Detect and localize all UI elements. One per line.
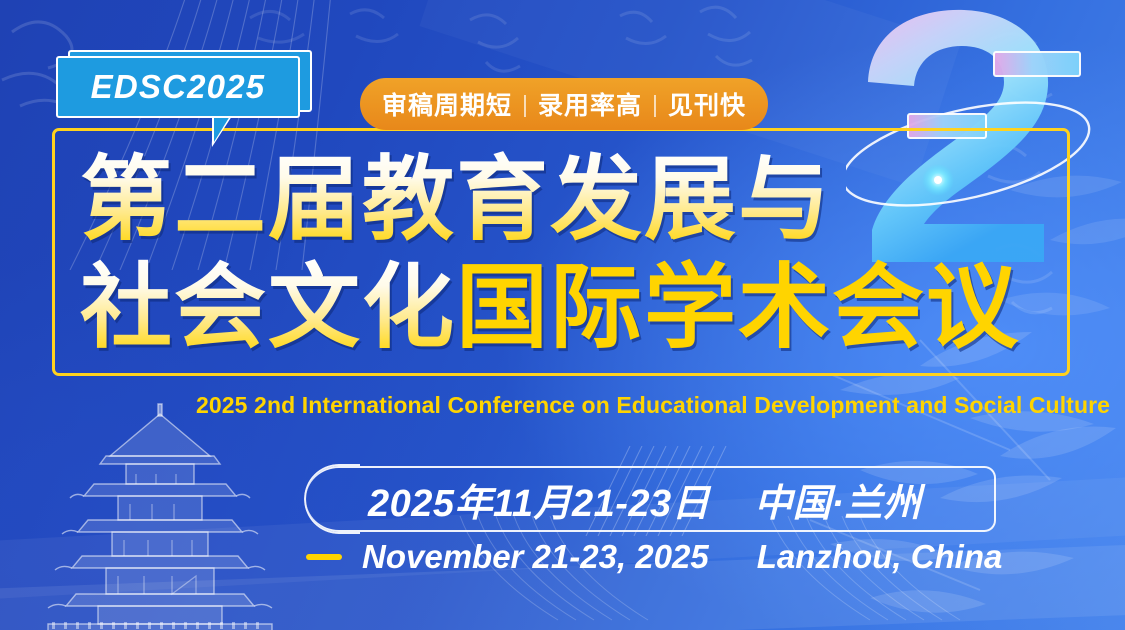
feature-item-3: 见刊快 (668, 86, 746, 122)
feature-separator: | (652, 91, 658, 118)
date-box-left-bracket (304, 464, 360, 534)
feature-pill: 审稿周期短 | 录用率高 | 见刊快 (360, 78, 768, 130)
title-line-2-solid: 国际学术会议 (456, 257, 1020, 359)
pagoda-icon (32, 400, 292, 630)
date-location-box: 2025年11月21-23日 中国·兰州 (306, 466, 996, 532)
badge-label: EDSC2025 (91, 68, 266, 106)
title-line-2-gradient: 社会文化 (80, 257, 456, 359)
title-line-1: 第二届教育发展与 (80, 146, 1070, 254)
date-en: November 21-23, 2025 (362, 538, 709, 576)
date-location-english: November 21-23, 2025 Lanzhou, China (306, 538, 1002, 576)
feature-item-1: 审稿周期短 (382, 86, 512, 122)
location-en: Lanzhou, China (757, 538, 1003, 576)
english-subtitle: 2025 2nd International Conference on Edu… (196, 392, 1110, 419)
badge-body: EDSC2025 (56, 56, 300, 118)
feature-item-2: 录用率高 (538, 86, 642, 122)
conference-title: 第二届教育发展与 社会文化国际学术会议 (80, 146, 1070, 362)
date-cn: 2025年11月21-23日 (368, 472, 710, 527)
yellow-dash-icon (306, 554, 342, 560)
feature-separator: | (522, 91, 528, 118)
location-cn: 中国·兰州 (754, 472, 921, 527)
edsc-badge[interactable]: EDSC2025 (56, 56, 300, 118)
title-line-2: 社会文化国际学术会议 (80, 254, 1070, 362)
badge-tail (214, 116, 230, 142)
conference-banner: EDSC2025 审稿周期短 | 录用率高 | 见刊快 第二届教育发展与 社会文… (0, 0, 1125, 630)
title-line-1-text: 第二届教育发展与 (80, 149, 832, 251)
